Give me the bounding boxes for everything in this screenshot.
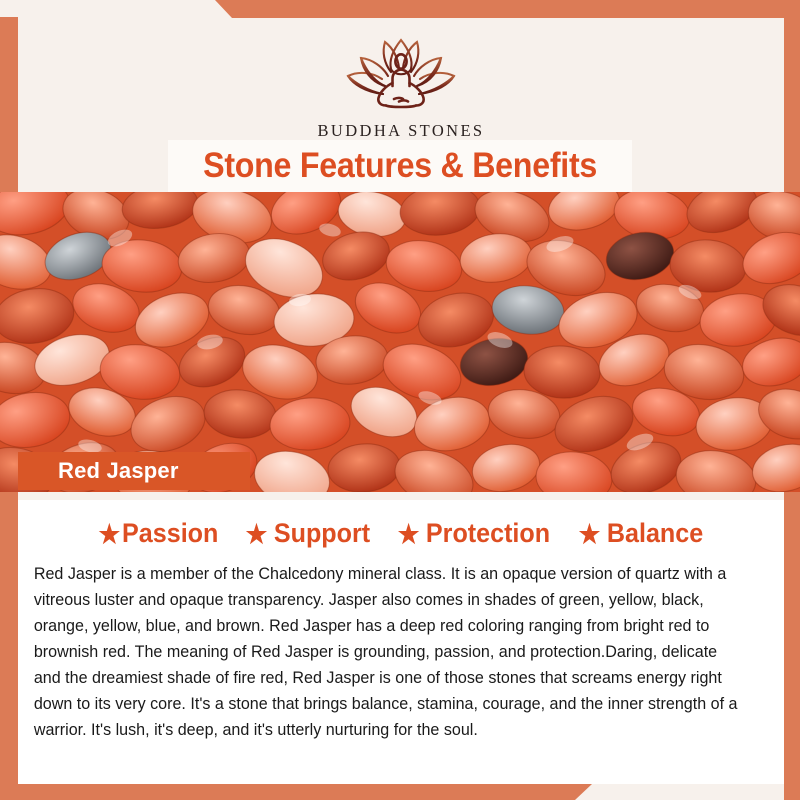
stone-description: Red Jasper is a member of the Chalcedony… bbox=[28, 561, 752, 743]
lotus-meditation-icon bbox=[341, 36, 461, 118]
page-title: Stone Features & Benefits bbox=[203, 146, 597, 186]
decorative-frame-bottom bbox=[0, 784, 800, 800]
benefit-item-passion: ★ Passion bbox=[98, 518, 218, 549]
title-banner: Stone Features & Benefits bbox=[168, 140, 632, 192]
benefit-label: Protection bbox=[426, 518, 550, 549]
stone-name-text: Red Jasper bbox=[58, 458, 179, 484]
benefit-item-support: ★ Support bbox=[245, 518, 369, 549]
benefits-row: ★ Passion ★ Support ★ Protection ★ Balan… bbox=[28, 518, 774, 549]
star-icon: ★ bbox=[579, 521, 601, 547]
decorative-frame-top bbox=[0, 0, 800, 18]
brand-logo: BUDDHA STONES bbox=[18, 36, 784, 141]
content-panel: ★ Passion ★ Support ★ Protection ★ Balan… bbox=[18, 500, 784, 784]
benefit-label: Balance bbox=[607, 518, 703, 549]
benefit-label: Passion bbox=[122, 518, 218, 549]
infographic-page: BUDDHA STONES Stone Features & Benefits bbox=[0, 0, 800, 800]
benefit-label: Support bbox=[274, 518, 370, 549]
star-icon: ★ bbox=[398, 521, 420, 547]
star-icon: ★ bbox=[98, 521, 120, 547]
brand-name: BUDDHA STONES bbox=[317, 121, 484, 141]
benefit-item-protection: ★ Protection bbox=[398, 518, 550, 549]
benefit-item-balance: ★ Balance bbox=[579, 518, 704, 549]
stone-name-label: Red Jasper bbox=[18, 452, 250, 490]
star-icon: ★ bbox=[245, 521, 267, 547]
hero-stone-image bbox=[0, 192, 800, 492]
